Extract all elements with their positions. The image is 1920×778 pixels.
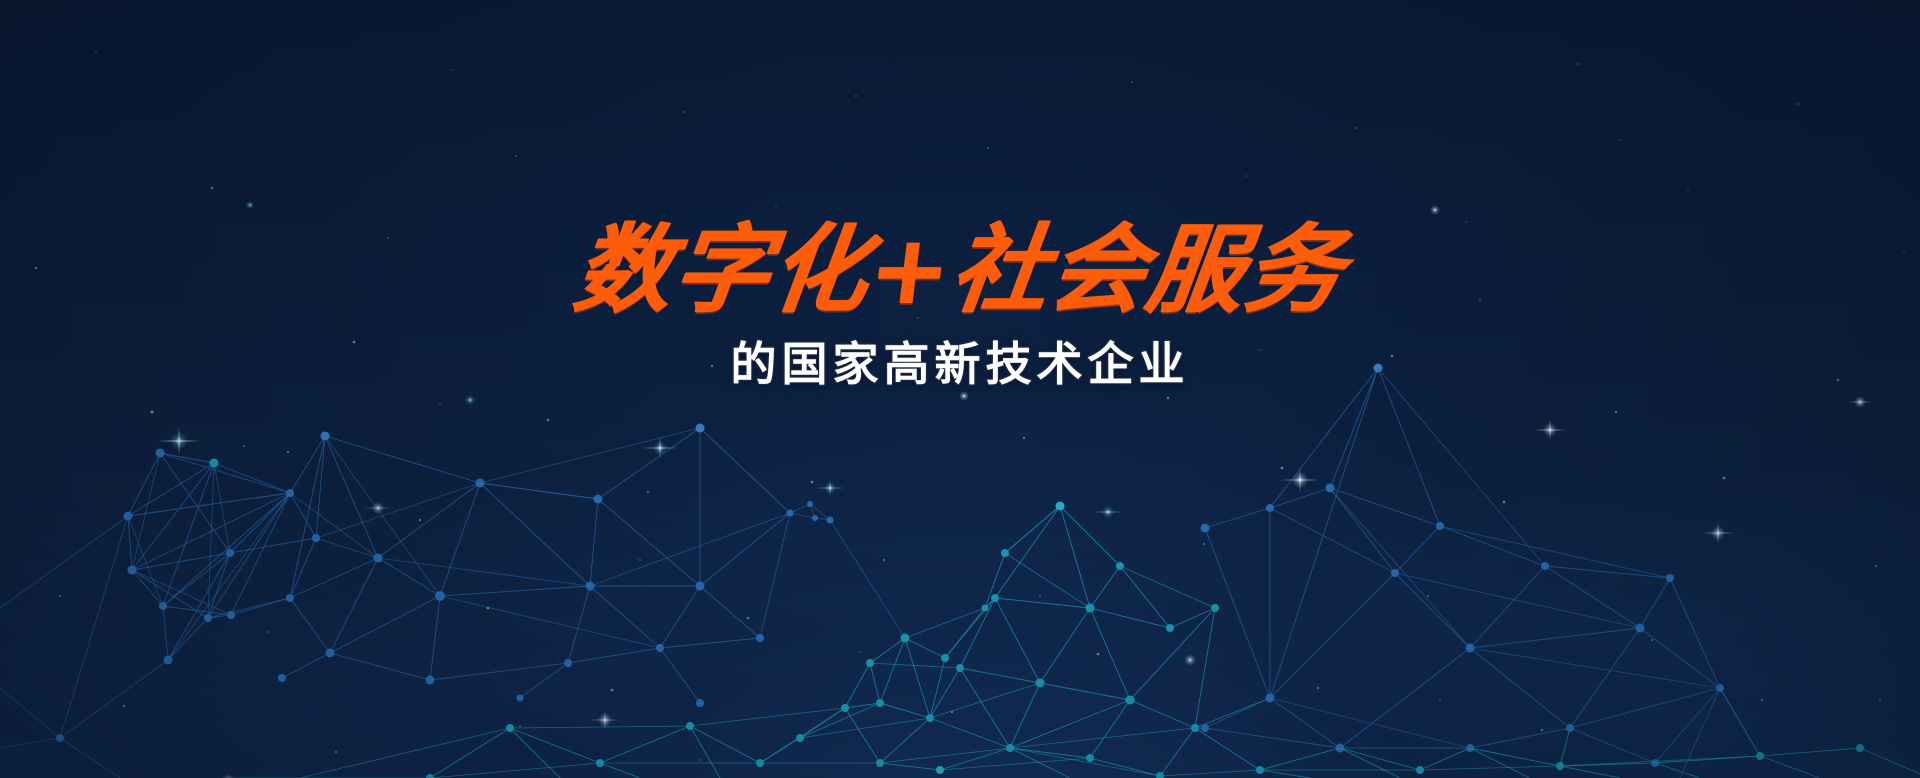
page-subtitle: 的国家高新技术企业 xyxy=(0,338,1920,391)
hero-banner: .lnB { stroke:#2a6fb8; stroke-width:0.9;… xyxy=(0,0,1920,778)
page-title: 数字化+社会服务 xyxy=(0,222,1920,318)
